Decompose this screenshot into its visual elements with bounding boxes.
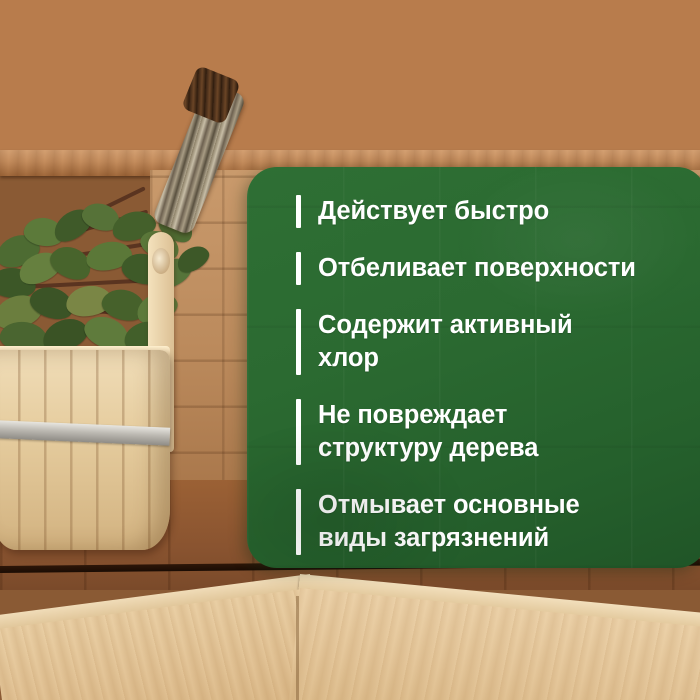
feature-text: Содержит активный хлор <box>318 309 573 375</box>
feature-text: Отбеливает поверхности <box>318 252 636 285</box>
feature-item-5: Отмывает основные виды загрязнений <box>296 489 693 555</box>
accent-bar-icon <box>296 399 301 465</box>
accent-bar-icon <box>296 195 301 228</box>
plank-wall-upper <box>0 0 700 162</box>
wooden-sauna-bucket <box>0 350 170 550</box>
feature-text: Действует быстро <box>318 195 549 228</box>
feature-item-4: Не повреждает структуру дерева <box>296 399 693 465</box>
bench-corner-joint <box>296 596 299 700</box>
benefits-card: Действует быстро Отбеливает поверхности … <box>247 167 700 568</box>
feature-text: Не повреждает структуру дерева <box>318 399 538 465</box>
accent-bar-icon <box>296 252 301 285</box>
accent-bar-icon <box>296 489 301 555</box>
feature-list: Действует быстро Отбеливает поверхности … <box>296 195 693 555</box>
accent-bar-icon <box>296 309 301 375</box>
feature-text: Отмывает основные виды загрязнений <box>318 489 580 555</box>
wood-knot <box>152 248 170 274</box>
feature-item-3: Содержит активный хлор <box>296 309 693 375</box>
feature-item-1: Действует быстро <box>296 195 693 228</box>
screenshot-canvas: Действует быстро Отбеливает поверхности … <box>0 0 700 700</box>
feature-item-2: Отбеливает поверхности <box>296 252 693 285</box>
